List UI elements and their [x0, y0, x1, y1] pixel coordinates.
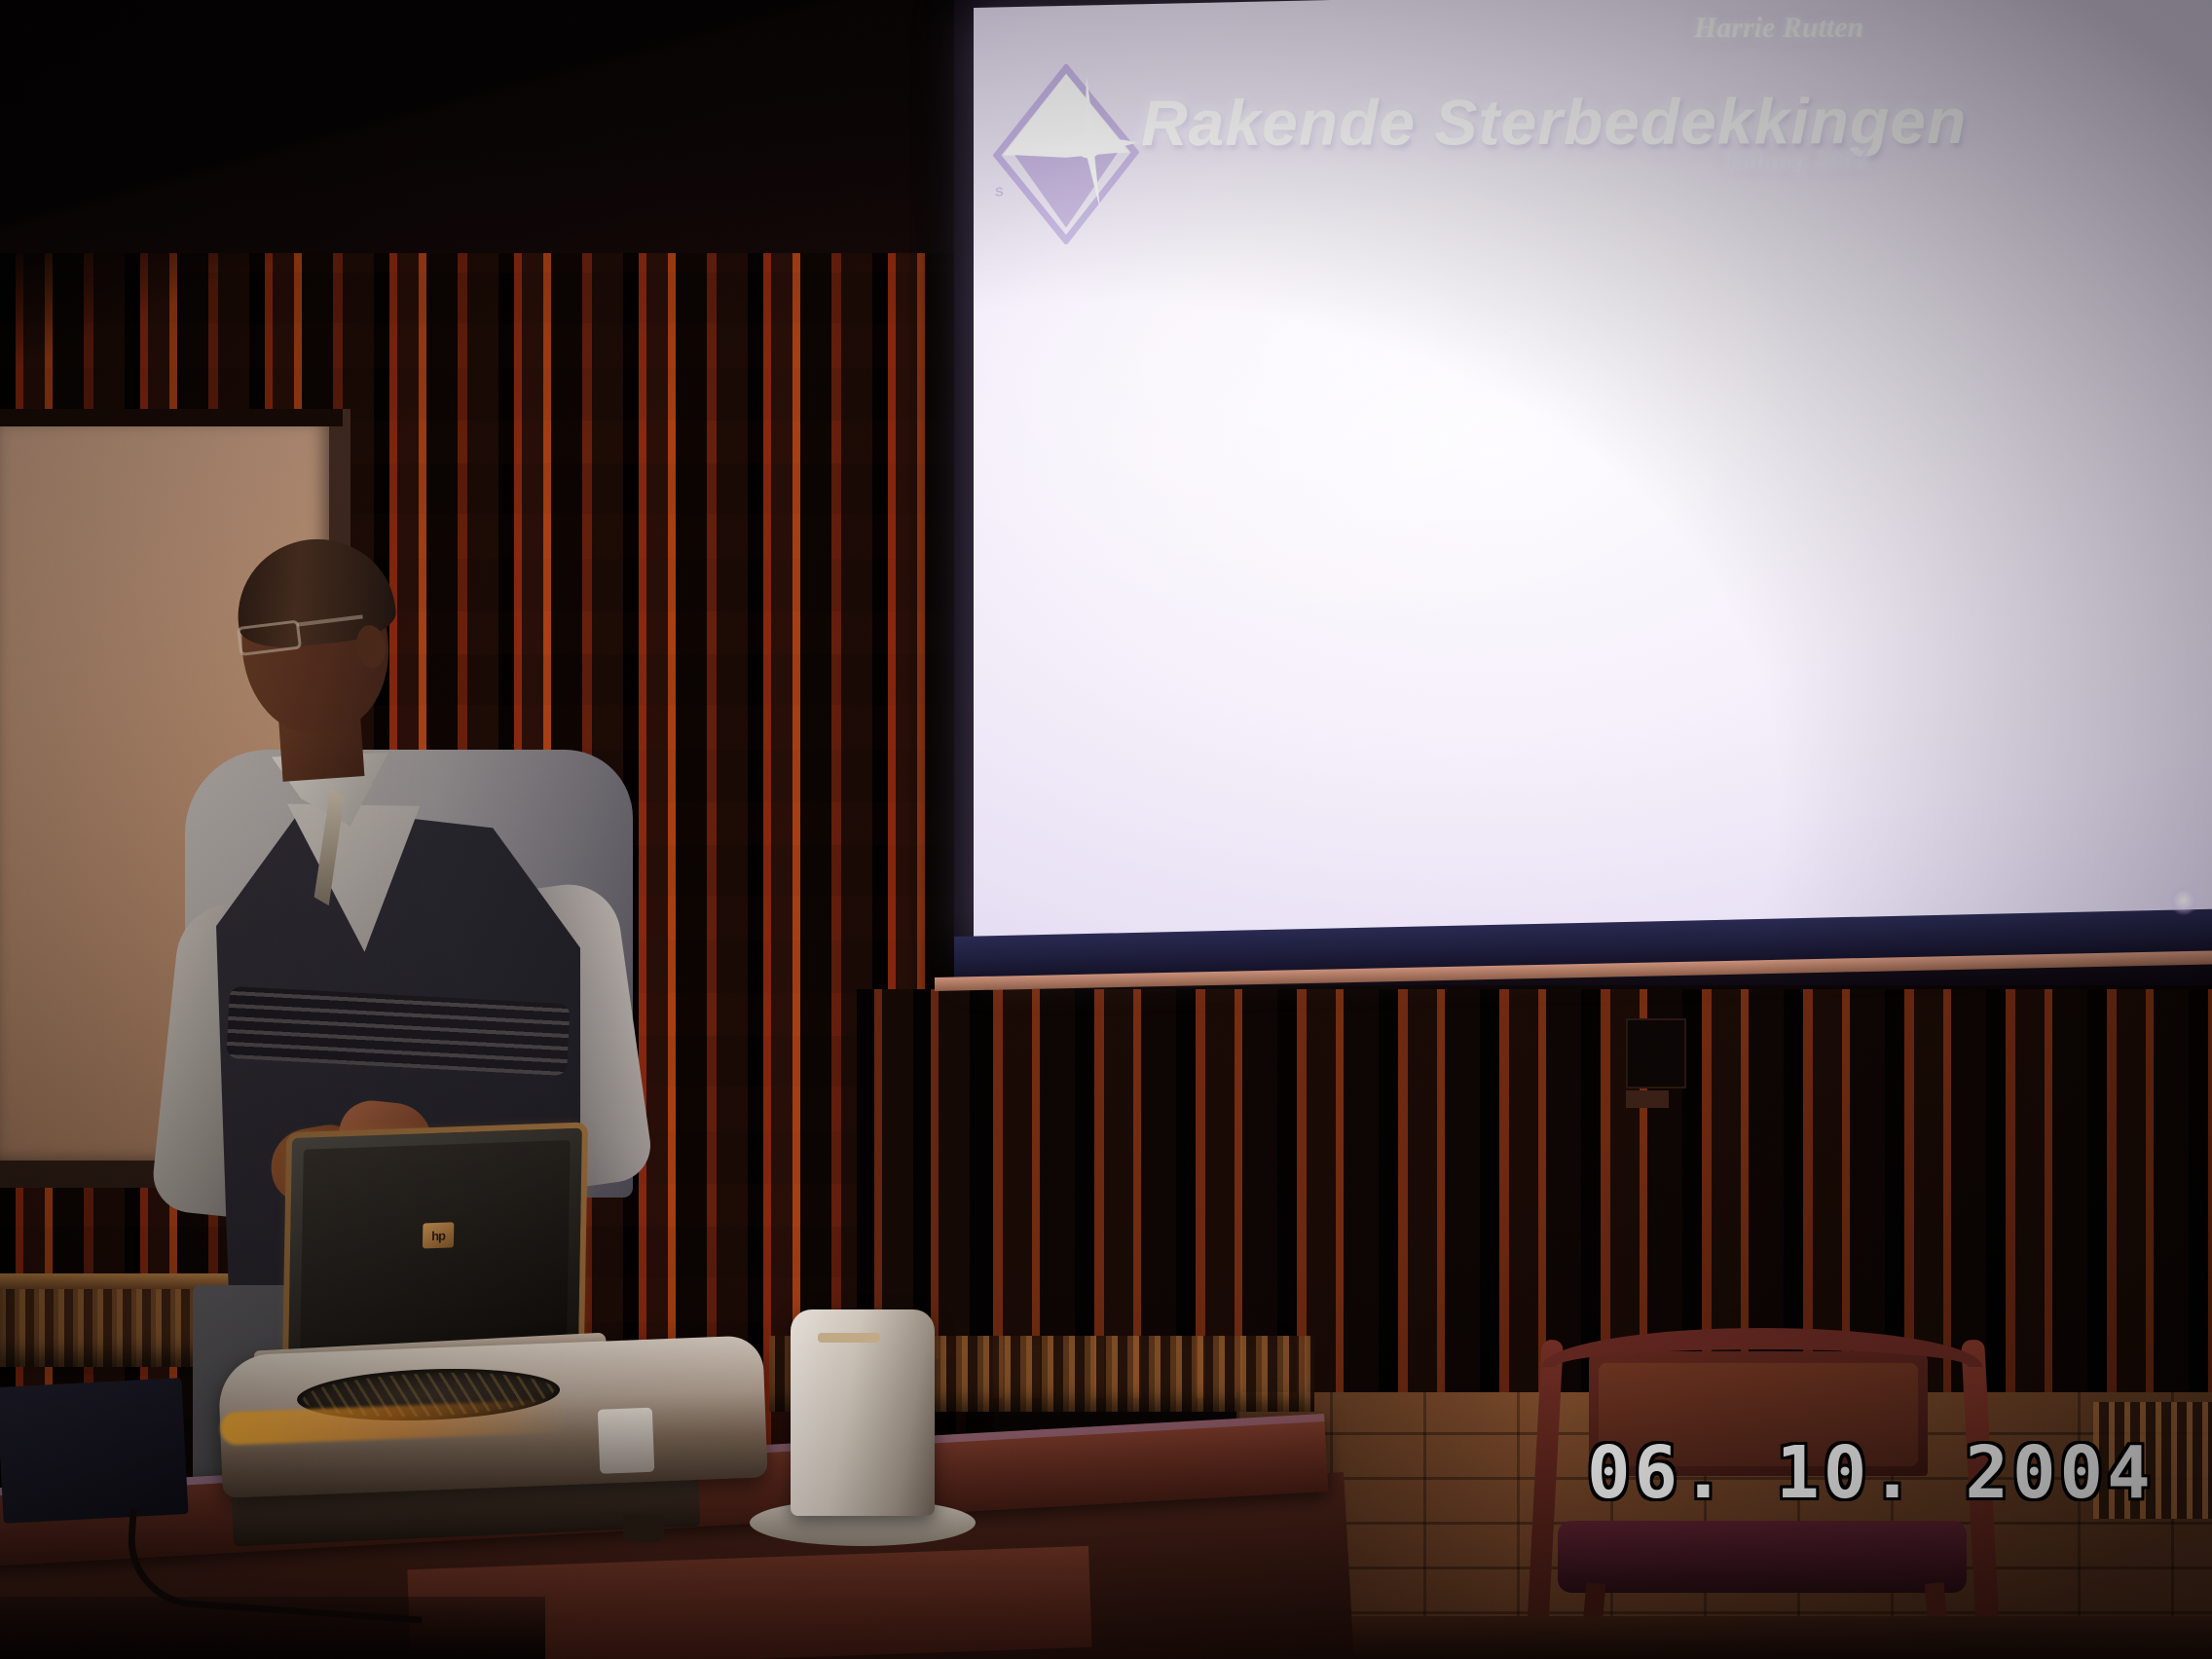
projector — [217, 1335, 767, 1497]
slide-location-year: Tilburg 2004 — [1723, 145, 1868, 176]
speaker — [791, 1309, 935, 1516]
date-stamp: 06. 10. 2004 — [1587, 1431, 2155, 1515]
secondary-screen-frame — [0, 409, 343, 426]
chair-arm-left — [1527, 1340, 1564, 1633]
lens-flare — [2169, 886, 2198, 915]
projector-lens — [598, 1408, 654, 1474]
hp-logo-icon: hp — [423, 1222, 454, 1248]
projection-screen: S Harrie Rutten Rakende Sterbedekkingen … — [974, 0, 2212, 954]
diamond-star-logo-icon — [993, 62, 1139, 245]
laptop-lid: hp — [288, 1128, 582, 1361]
slide-content: S Harrie Rutten Rakende Sterbedekkingen … — [974, 0, 2212, 954]
slide-author: Harrie Rutten — [1694, 12, 1863, 45]
photograph: S Harrie Rutten Rakende Sterbedekkingen … — [0, 0, 2212, 1659]
projector-foot — [623, 1515, 664, 1542]
equipment-box — [0, 1378, 189, 1524]
chair-seat — [1558, 1521, 1967, 1593]
wall-socket-secondary — [1626, 1090, 1669, 1108]
speaker-slot — [818, 1333, 880, 1343]
lower-wall-panel-left — [857, 989, 983, 1359]
wall-socket — [1626, 1018, 1686, 1088]
chair-top-rail — [1542, 1328, 1982, 1367]
slide-logo-mark: S — [995, 184, 1004, 199]
projector-warm-highlight — [220, 1399, 571, 1446]
foreground-shadow — [0, 1597, 545, 1659]
floor — [1236, 1616, 2212, 1659]
